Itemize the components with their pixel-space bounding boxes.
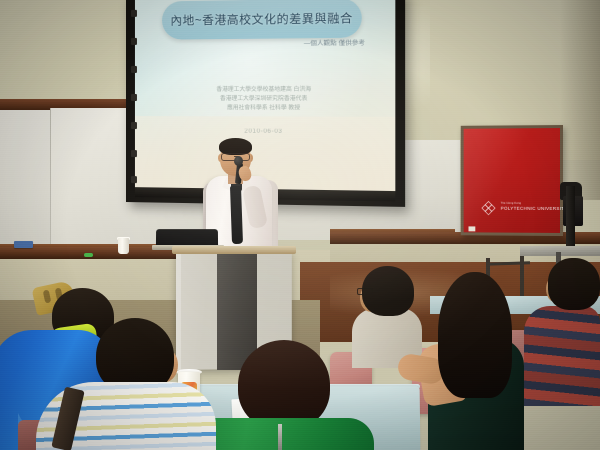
person-striped-red-head — [548, 258, 600, 310]
projection-screen-surface: 內地~香港高校文化的差異與融合 —個人觀點 僅供參考 香港理工大學交學校基地建高… — [135, 0, 395, 194]
microphone-head — [234, 156, 243, 166]
screen-tab — [131, 176, 137, 183]
slide-title-box: 內地~香港高校文化的差異與融合 — [162, 0, 362, 40]
projection-screen-frame: 內地~香港高校文化的差異與融合 —個人觀點 僅供參考 香港理工大學交學校基地建高… — [126, 0, 405, 207]
screen-tab — [131, 122, 137, 129]
notice-board: The Hong Kong POLYTECHNIC UNIVERSITY — [461, 125, 563, 236]
screen-tab — [131, 94, 137, 101]
screen-tab — [131, 10, 137, 17]
person-dark-top-hair — [438, 272, 512, 398]
screen-tension-tabs — [131, 4, 137, 190]
slide-body-line-2: 香港理工大學深圳研究院香港代表 — [171, 95, 358, 104]
whiteboard-eraser — [14, 241, 33, 248]
green-marker — [84, 253, 93, 257]
wordmark-main-line: POLYTECHNIC UNIVERSITY — [501, 206, 554, 211]
slide-subtitle: —個人觀點 僅供參考 — [232, 38, 365, 48]
university-wordmark: The Hong Kong POLYTECHNIC UNIVERSITY — [501, 202, 554, 211]
av-equipment-stand — [566, 186, 575, 248]
diamond-lattice-logo — [480, 200, 497, 217]
slide-body-line-1: 香港理工大學交學校基地建高 白洪海 — [171, 86, 358, 95]
notice-board-surface: The Hong Kong POLYTECHNIC UNIVERSITY — [464, 128, 560, 233]
person-green-top-head — [238, 340, 330, 430]
slide-body-line-3: 應用社會科學系 社科學 教授 — [171, 104, 358, 114]
podium-left-edge — [176, 252, 181, 370]
ledge-paper-cup — [118, 238, 129, 254]
person-striped-red-body — [524, 306, 600, 406]
speaker-necktie — [230, 186, 243, 244]
screen-tab — [131, 150, 137, 157]
wordmark-top-line: The Hong Kong — [501, 202, 554, 205]
slide-date: 2010-06-03 — [171, 128, 358, 135]
whiteboard-panel-left — [0, 110, 52, 250]
podium-top-surface — [172, 246, 296, 254]
person-green-top-zipper — [278, 424, 282, 450]
slide-title: 內地~香港高校文化的差異與融合 — [162, 0, 362, 40]
screen-tab — [131, 66, 137, 73]
photo-scene: 內地~香港高校文化的差異與融合 —個人觀點 僅供參考 香港理工大學交學校基地建高… — [0, 0, 600, 450]
notice-board-sheen — [464, 128, 560, 233]
person-glasses-eyewear — [357, 288, 373, 295]
screen-tab — [131, 38, 137, 45]
corner-shadow — [560, 0, 600, 200]
notice-board-tag — [468, 226, 475, 231]
